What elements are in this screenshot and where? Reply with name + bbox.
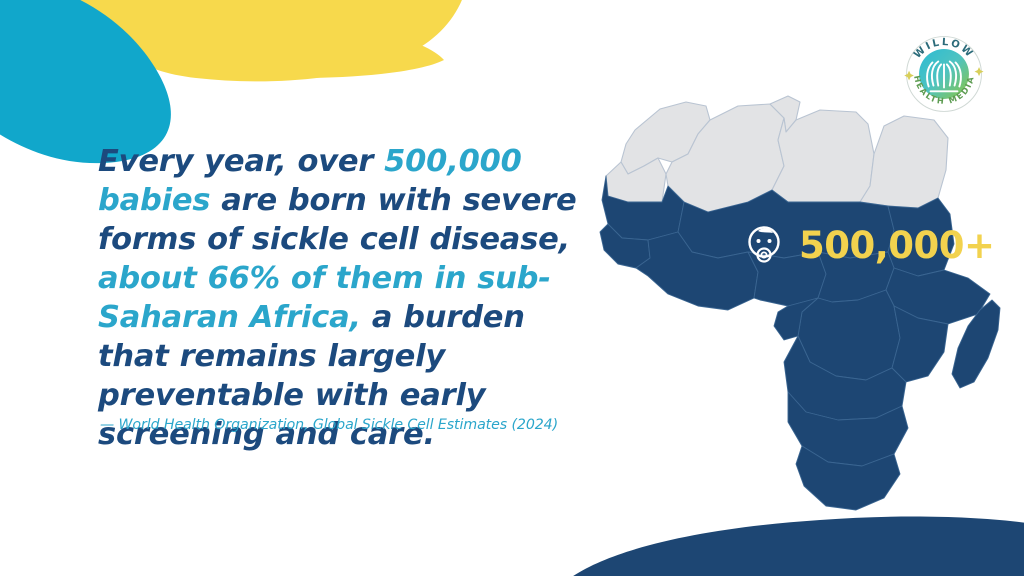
country-egypt: [860, 116, 948, 208]
africa-map-svg: [588, 62, 1024, 532]
willow-health-media-logo: WILLOW HEALTH MEDIA: [896, 26, 992, 122]
logo-svg: WILLOW HEALTH MEDIA: [896, 26, 992, 122]
callout-number: 500,000+: [799, 227, 995, 264]
attribution-text: — World Health Organization, Global Sick…: [100, 417, 558, 433]
headline-text: Every year, over 500,000 babies are born…: [98, 142, 598, 454]
map-callout: 500,000+: [744, 224, 995, 266]
yellow-swoosh-shape-main: [96, 0, 470, 81]
yellow-swoosh-shape: [60, 0, 444, 78]
cyan-blob-shape: [0, 0, 171, 163]
infographic-canvas: Every year, over 500,000 babies are born…: [0, 0, 1024, 576]
headline-segment-plain: Every year, over: [98, 144, 384, 179]
baby-face-icon: [744, 224, 786, 266]
africa-map: [588, 62, 1024, 532]
headline-block: Every year, over 500,000 babies are born…: [98, 142, 598, 454]
